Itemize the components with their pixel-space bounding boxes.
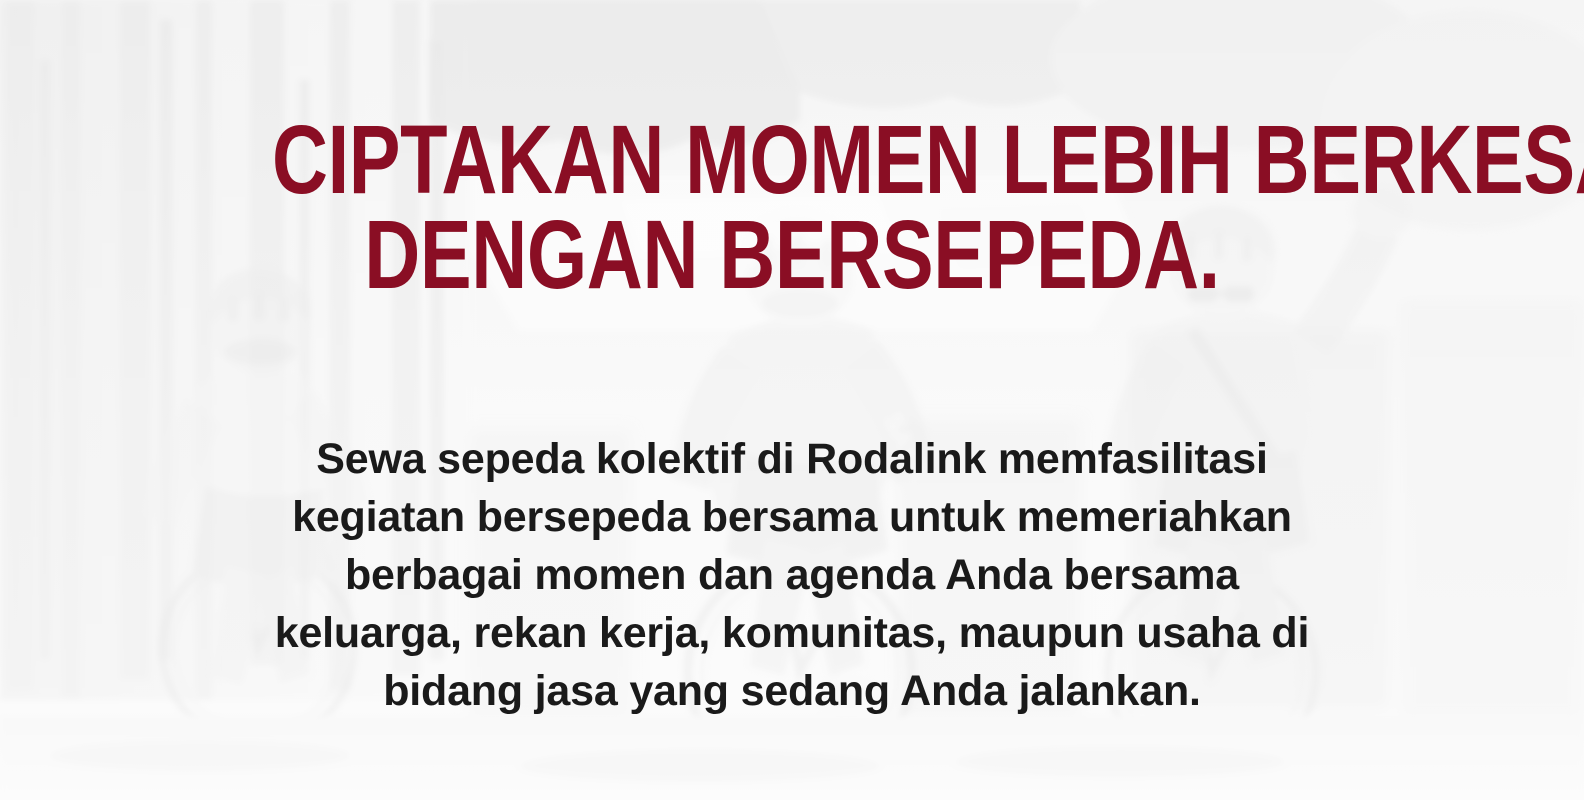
headline-line-1: CIPTAKAN MOMEN LEBIH BERKESAN [272, 112, 1312, 207]
body-line-3: berbagai momen dan agenda Anda bersama [162, 546, 1422, 604]
body-line-4: keluarga, rekan kerja, komunitas, maupun… [162, 604, 1422, 662]
body-line-2: kegiatan bersepeda bersama untuk memeria… [162, 488, 1422, 546]
banner-content: CIPTAKAN MOMEN LEBIH BERKESAN DENGAN BER… [0, 0, 1584, 800]
body-line-5: bidang jasa yang sedang Anda jalankan. [162, 662, 1422, 720]
banner-headline: CIPTAKAN MOMEN LEBIH BERKESAN DENGAN BER… [272, 112, 1312, 302]
banner-body-copy: Sewa sepeda kolektif di Rodalink memfasi… [162, 430, 1422, 720]
promo-banner: SAYS [0, 0, 1584, 800]
headline-line-2: DENGAN BERSEPEDA. [272, 207, 1312, 302]
body-line-1: Sewa sepeda kolektif di Rodalink memfasi… [162, 430, 1422, 488]
